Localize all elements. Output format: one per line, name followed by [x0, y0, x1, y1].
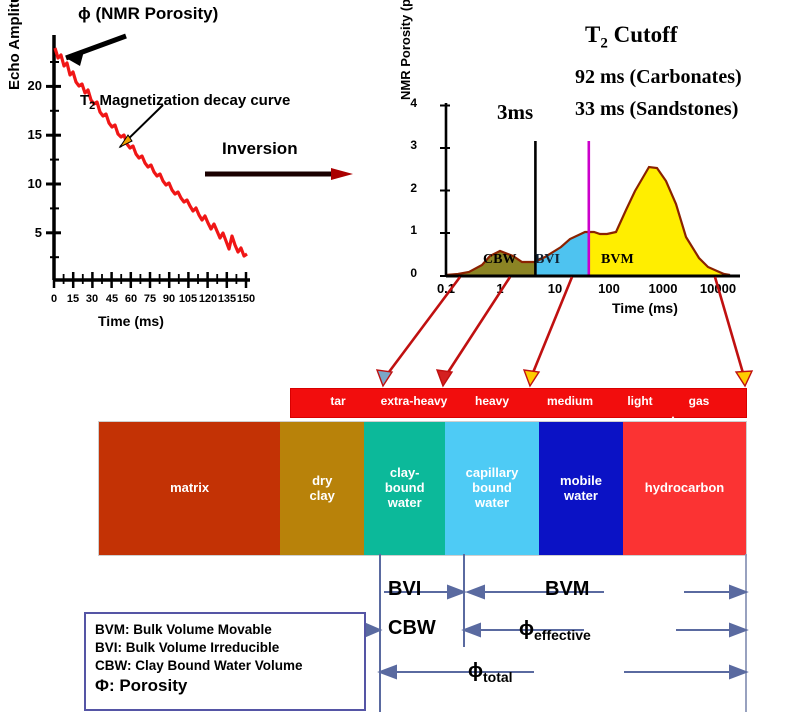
decay-ytick-10: 10: [18, 176, 42, 191]
arrowhead-extra-heavy: [437, 370, 452, 386]
fluid-label-gas: gas: [679, 394, 719, 408]
t2-caption-pre: T: [80, 92, 89, 109]
decay-curve: [55, 48, 247, 256]
rock-label-dry-clay: dry clay: [310, 474, 335, 504]
t2-ytick-2: 2: [403, 181, 417, 195]
arrowhead-medium: [524, 370, 539, 386]
t2-cutoff-title: T2 Cutoff: [585, 22, 677, 53]
decay-xtick-150: 150: [233, 293, 259, 305]
rock-cell-clay-bound-water: clay- bound water: [364, 422, 445, 555]
phi-effective-bracket-arrows: [464, 624, 746, 636]
rock-cell-capillary-bound-water: capillary bound water: [445, 422, 539, 555]
rock-cell-hydrocarbon: hydrocarbon: [623, 422, 746, 555]
bracket-label-bvi: BVI: [388, 578, 421, 601]
rock-label-capillary-bound-water: capillary bound water: [466, 466, 519, 511]
t2-cutoff-carbonates-label: 92 ms (Carbonates): [575, 66, 742, 89]
t2-to-fluid-connector-arrows: [280, 272, 760, 392]
t2-decay-curve-caption: T2 Magnetization decay curve: [80, 92, 290, 112]
decay-ytick-20: 20: [18, 78, 42, 93]
fluid-label-tar: tar: [313, 394, 363, 408]
legend-line-bvi: BVI: Bulk Volume Irreducible: [95, 639, 364, 657]
rock-composition-column: matrix dry clay clay- bound water capill…: [98, 421, 747, 556]
rock-label-matrix: matrix: [170, 481, 209, 496]
t2-cutoff-title-pre: T: [585, 22, 600, 47]
t2-chart-y-axis-label: NMR Porosity (p.u.): [398, 0, 413, 100]
arrowhead-gas: [736, 371, 752, 386]
phi-effective-symbol: ϕ: [519, 618, 534, 640]
region-label-bvm: BVM: [601, 252, 634, 268]
fluid-label-light: light: [616, 394, 664, 408]
phi-total-subscript: total: [483, 669, 513, 685]
t2-distribution-chart: [418, 95, 738, 280]
legend-line-cbw: CBW: Clay Bound Water Volume: [95, 657, 364, 675]
t2-cutoff-title-post: Cutoff: [608, 22, 678, 47]
bvm-bracket-arrows: [468, 586, 746, 598]
rock-cell-dry-clay: dry clay: [280, 422, 364, 555]
decay-ytick-15: 15: [18, 127, 42, 142]
phi-nmr-porosity-caption: ϕ (NMR Porosity): [78, 4, 218, 24]
arrowhead-tar: [377, 370, 392, 386]
rock-label-mobile-water: mobile water: [560, 474, 602, 504]
fluid-label-medium: medium: [539, 394, 601, 408]
phi-effective-subscript: effective: [534, 627, 591, 643]
rock-cell-matrix: matrix: [99, 422, 280, 555]
legend-line-bvm: BVM: Bulk Volume Movable: [95, 621, 364, 639]
bracket-label-cbw: CBW: [388, 617, 436, 640]
phi-porosity-arrow: [66, 36, 126, 66]
phi-total-symbol: ϕ: [468, 660, 483, 682]
rock-label-hydrocarbon: hydrocarbon: [645, 481, 724, 496]
phi-total-bracket-arrows: [380, 666, 746, 678]
bracket-label-phi-total: ϕtotal: [468, 660, 513, 685]
t2-ytick-4: 4: [403, 96, 417, 110]
inversion-arrow: [205, 168, 353, 180]
region-label-bvi: BVI: [535, 252, 560, 268]
rock-cell-mobile-water: mobile water: [539, 422, 623, 555]
region-label-cbw: CBW: [483, 252, 516, 268]
t2-ytick-3: 3: [403, 138, 417, 152]
bracket-label-bvm: BVM: [545, 578, 589, 601]
legend-line-porosity: Φ: Porosity: [95, 675, 364, 697]
decay-chart-x-axis-label: Time (ms): [98, 313, 164, 329]
t2-cutoff-title-sub: 2: [600, 36, 608, 52]
rock-label-clay-bound-water: clay- bound water: [385, 466, 425, 511]
decay-ytick-5: 5: [18, 225, 42, 240]
fluid-label-heavy: heavy: [464, 394, 520, 408]
abbreviations-legend-box: BVM: Bulk Volume Movable BVI: Bulk Volum…: [84, 612, 366, 711]
fluid-label-extra-heavy: extra-heavy: [371, 394, 457, 408]
t2-caption-post: Magnetization decay curve: [95, 92, 290, 109]
t2-chart-svg: [418, 95, 748, 290]
bracket-label-phi-effective: ϕeffective: [519, 618, 591, 643]
t2-ytick-1: 1: [403, 223, 417, 237]
inversion-label: Inversion: [222, 139, 298, 159]
